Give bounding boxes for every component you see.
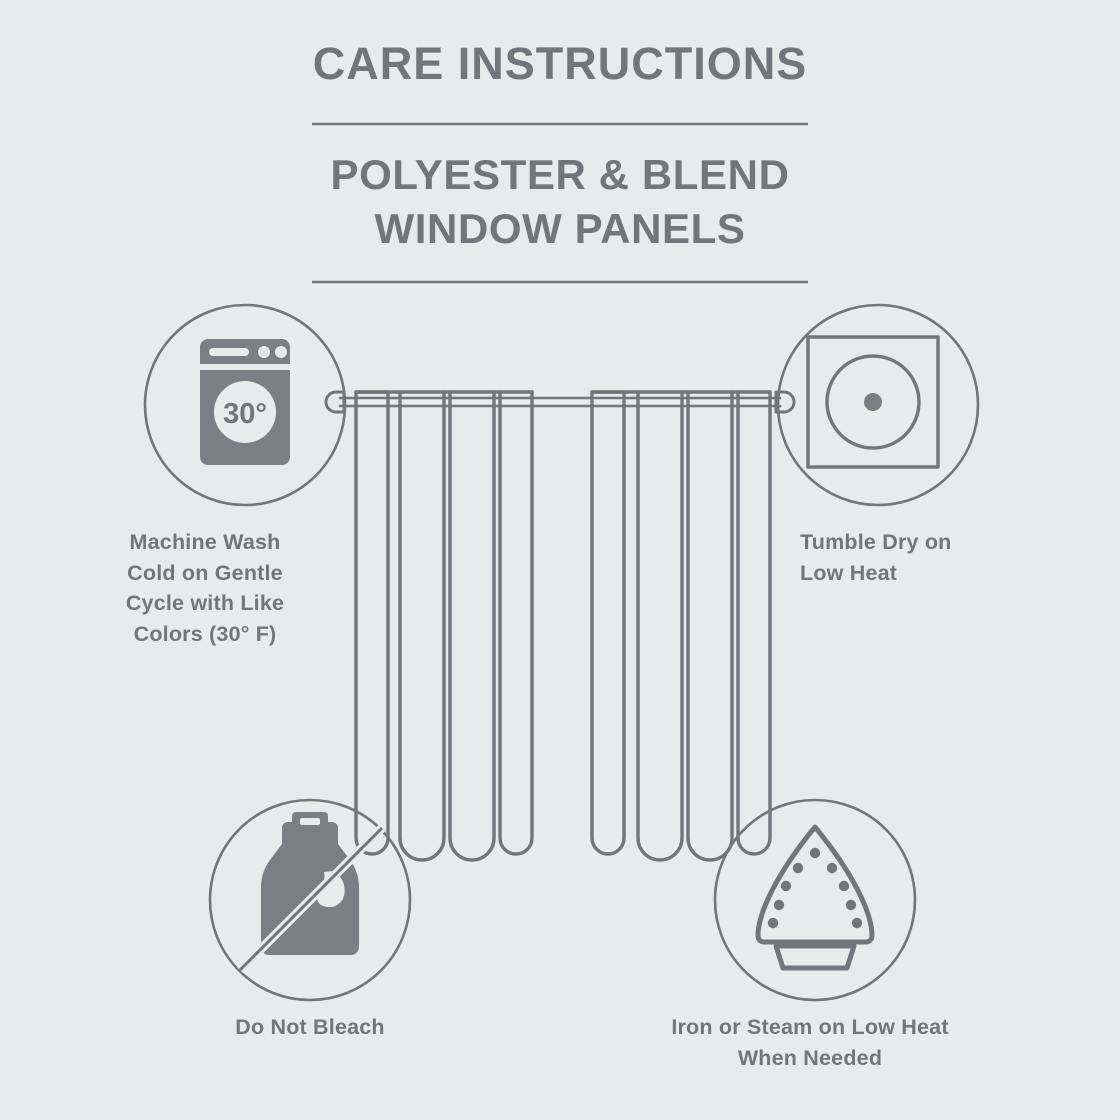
care-instructions-infographic: 30° xyxy=(0,0,1120,1120)
iron-steam-icon xyxy=(758,827,872,968)
do-not-bleach-icon xyxy=(240,812,382,970)
wash-badge-temperature: 30° xyxy=(223,398,267,430)
caption-machine-wash: Machine Wash Cold on Gentle Cycle with L… xyxy=(60,527,350,649)
page-title: CARE INSTRUCTIONS xyxy=(0,36,1120,92)
rod-finial-left xyxy=(326,392,344,412)
page-subtitle: POLYESTER & BLEND WINDOW PANELS xyxy=(0,148,1120,256)
caption-tumble-dry: Tumble Dry on Low Heat xyxy=(800,527,1100,588)
caption-iron-steam: Iron or Steam on Low Heat When Needed xyxy=(610,1012,1010,1073)
curtain-window-panels-illustration xyxy=(326,392,794,860)
curtain-rod xyxy=(326,392,794,412)
right-curtain-panel xyxy=(592,392,770,860)
tumble-dry-low-icon xyxy=(808,337,938,467)
left-curtain-panel xyxy=(356,392,532,860)
caption-do-not-bleach: Do Not Bleach xyxy=(175,1012,445,1043)
